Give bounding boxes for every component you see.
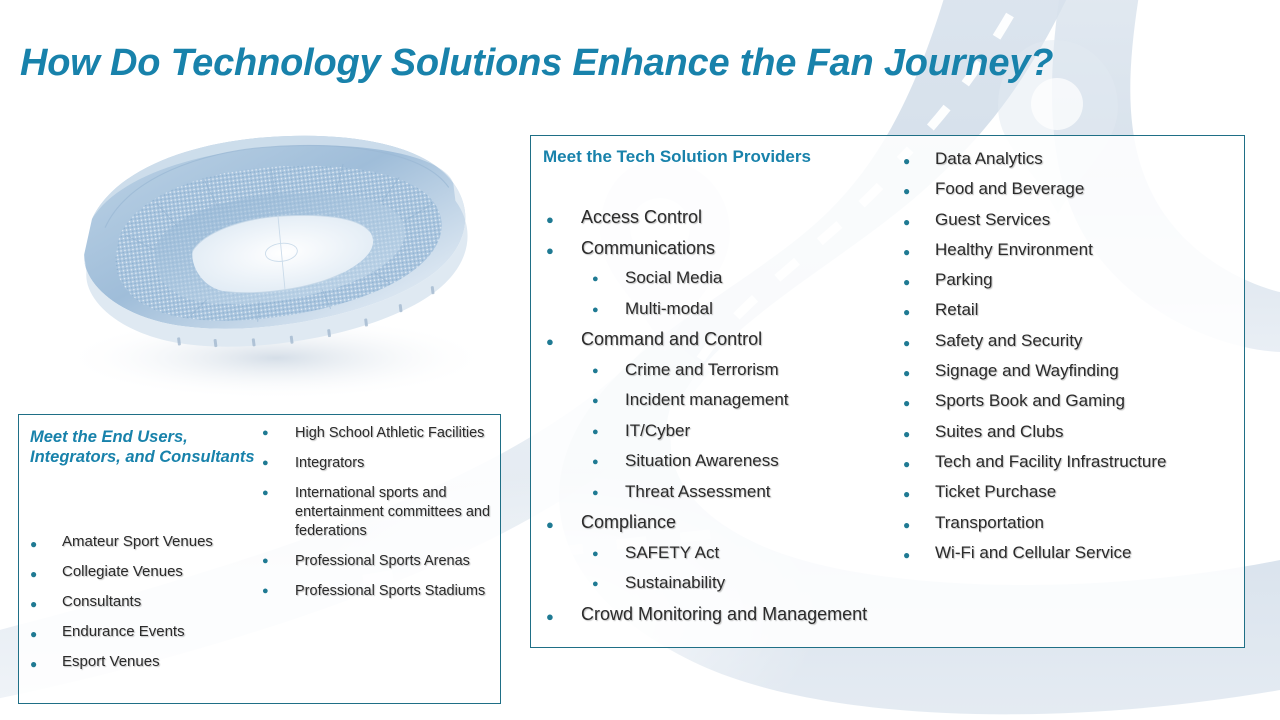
list-item[interactable]: ● Professional Sports Stadiums	[255, 582, 500, 601]
list-item[interactable]: ● Communications	[531, 233, 881, 264]
list-item-label: Healthy Environment	[895, 235, 1240, 265]
list-item[interactable]: ● Situation Awareness	[531, 446, 881, 477]
list-item-label: Tech and Facility Infrastructure	[895, 447, 1240, 477]
bullet-icon: ●	[592, 488, 599, 499]
end-users-left-list: ● Amateur Sport Venues ● Collegiate Venu…	[19, 527, 254, 677]
list-item-label: Access Control	[531, 202, 881, 233]
list-item[interactable]: ● Incident management	[531, 385, 881, 416]
bullet-icon: ●	[903, 488, 910, 500]
list-item-label: Command and Control	[531, 324, 881, 355]
bullet-icon: ●	[903, 216, 910, 228]
list-item-label: Parking	[895, 265, 1240, 295]
list-item-label: Guest Services	[895, 205, 1240, 235]
list-item-label: Compliance	[531, 507, 881, 538]
list-item[interactable]: ● Multi-modal	[531, 294, 881, 325]
list-item-label: Integrators	[255, 454, 500, 473]
list-item-label: Crime and Terrorism	[531, 355, 881, 386]
bullet-icon: ●	[262, 556, 269, 567]
list-item-label: Suites and Clubs	[895, 417, 1240, 447]
list-item[interactable]: ● Access Control	[531, 202, 881, 233]
list-item[interactable]: ● Command and Control	[531, 324, 881, 355]
list-item-label: Esport Venues	[19, 647, 254, 677]
list-item-label: Safety and Security	[895, 326, 1240, 356]
bullet-icon: ●	[903, 367, 910, 379]
list-item-label: Food and Beverage	[895, 174, 1240, 204]
bullet-icon: ●	[262, 488, 269, 499]
list-item-label: Amateur Sport Venues	[19, 527, 254, 557]
bullet-icon: ●	[546, 610, 554, 623]
list-item-label: Sports Book and Gaming	[895, 386, 1240, 416]
list-item[interactable]: ● Esport Venues	[19, 647, 254, 677]
solution-categories-list: ● Data Analytics ● Food and Beverage ● G…	[895, 144, 1240, 568]
bullet-icon: ●	[262, 586, 269, 597]
bullet-icon: ●	[592, 396, 599, 407]
list-item[interactable]: ● Compliance	[531, 507, 881, 538]
bullet-icon: ●	[903, 276, 910, 288]
list-item-label: Wi-Fi and Cellular Service	[895, 538, 1240, 568]
bullet-icon: ●	[546, 335, 554, 348]
bullet-icon: ●	[903, 549, 910, 561]
list-item[interactable]: ● Retail	[895, 295, 1240, 325]
list-item-label: High School Athletic Facilities	[255, 424, 500, 443]
list-item[interactable]: ● International sports and entertainment…	[255, 484, 500, 541]
list-item[interactable]: ● Threat Assessment	[531, 477, 881, 508]
list-item[interactable]: ● High School Athletic Facilities	[255, 424, 500, 443]
list-item[interactable]: ● Data Analytics	[895, 144, 1240, 174]
list-item-label: Incident management	[531, 385, 881, 416]
list-item[interactable]: ● Professional Sports Arenas	[255, 552, 500, 571]
tech-solution-providers-panel: Meet the Tech Solution Providers ● Acces…	[530, 135, 1245, 648]
providers-panel-heading: Meet the Tech Solution Providers	[543, 146, 811, 168]
providers-outline-list: ● Access Control ● Communications ● Soci…	[531, 202, 881, 629]
list-item-label: Data Analytics	[895, 144, 1240, 174]
list-item-label: SAFETY Act	[531, 538, 881, 569]
list-item[interactable]: ● Social Media	[531, 263, 881, 294]
list-item[interactable]: ● Healthy Environment	[895, 235, 1240, 265]
bullet-icon: ●	[903, 246, 910, 258]
list-item[interactable]: ● Crime and Terrorism	[531, 355, 881, 386]
list-item[interactable]: ● Safety and Security	[895, 326, 1240, 356]
list-item[interactable]: ● Ticket Purchase	[895, 477, 1240, 507]
list-item-label: Crowd Monitoring and Management	[531, 599, 881, 630]
list-item[interactable]: ● Crowd Monitoring and Management	[531, 599, 881, 630]
bullet-icon: ●	[903, 458, 910, 470]
list-item-label: Collegiate Venues	[19, 557, 254, 587]
list-item-label: IT/Cyber	[531, 416, 881, 447]
list-item[interactable]: ● Parking	[895, 265, 1240, 295]
bullet-icon: ●	[903, 519, 910, 531]
bullet-icon: ●	[903, 185, 910, 197]
list-item-label: Professional Sports Stadiums	[255, 582, 500, 601]
bullet-icon: ●	[30, 628, 37, 640]
bullet-icon: ●	[592, 274, 599, 285]
list-item[interactable]: ● Transportation	[895, 508, 1240, 538]
end-users-panel: Meet the End Users, Integrators, and Con…	[18, 414, 501, 704]
list-item[interactable]: ● SAFETY Act	[531, 538, 881, 569]
bullet-icon: ●	[30, 538, 37, 550]
endusers-panel-heading: Meet the End Users, Integrators, and Con…	[30, 427, 260, 467]
bullet-icon: ●	[262, 428, 269, 439]
list-item-label: Threat Assessment	[531, 477, 881, 508]
slide-canvas: How Do Technology Solutions Enhance the …	[0, 0, 1280, 720]
list-item-label: Social Media	[531, 263, 881, 294]
bullet-icon: ●	[903, 337, 910, 349]
list-item-label: International sports and entertainment c…	[255, 484, 500, 541]
bullet-icon: ●	[592, 549, 599, 560]
bullet-icon: ●	[592, 457, 599, 468]
list-item[interactable]: ● Endurance Events	[19, 617, 254, 647]
bullet-icon: ●	[30, 598, 37, 610]
end-users-right-list: ● High School Athletic Facilities ● Inte…	[255, 424, 500, 612]
list-item-label: Consultants	[19, 587, 254, 617]
list-item-label: Ticket Purchase	[895, 477, 1240, 507]
list-item-label: Transportation	[895, 508, 1240, 538]
list-item[interactable]: ● Food and Beverage	[895, 174, 1240, 204]
bullet-icon: ●	[903, 428, 910, 440]
bullet-icon: ●	[546, 244, 554, 257]
list-item-label: Communications	[531, 233, 881, 264]
list-item[interactable]: ● Collegiate Venues	[19, 557, 254, 587]
bullet-icon: ●	[30, 568, 37, 580]
list-item-label: Sustainability	[531, 568, 881, 599]
list-item-label: Multi-modal	[531, 294, 881, 325]
bullet-icon: ●	[592, 305, 599, 316]
bullet-icon: ●	[546, 213, 554, 226]
list-item[interactable]: ● Suites and Clubs	[895, 417, 1240, 447]
list-item-label: Situation Awareness	[531, 446, 881, 477]
bullet-icon: ●	[903, 155, 910, 167]
stadium-illustration	[18, 128, 518, 398]
bullet-icon: ●	[592, 579, 599, 590]
bullet-icon: ●	[546, 518, 554, 531]
list-item-label: Professional Sports Arenas	[255, 552, 500, 571]
list-item[interactable]: ● Wi-Fi and Cellular Service	[895, 538, 1240, 568]
bullet-icon: ●	[592, 427, 599, 438]
bullet-icon: ●	[592, 366, 599, 377]
slide-title: How Do Technology Solutions Enhance the …	[20, 40, 1260, 86]
bullet-icon: ●	[903, 306, 910, 318]
list-item[interactable]: ● Amateur Sport Venues	[19, 527, 254, 557]
list-item-label: Signage and Wayfinding	[895, 356, 1240, 386]
list-item[interactable]: ● IT/Cyber	[531, 416, 881, 447]
list-item-label: Retail	[895, 295, 1240, 325]
list-item-label: Endurance Events	[19, 617, 254, 647]
list-item[interactable]: ● Guest Services	[895, 205, 1240, 235]
bullet-icon: ●	[903, 397, 910, 409]
list-item[interactable]: ● Sustainability	[531, 568, 881, 599]
list-item[interactable]: ● Signage and Wayfinding	[895, 356, 1240, 386]
list-item[interactable]: ● Consultants	[19, 587, 254, 617]
bullet-icon: ●	[30, 658, 37, 670]
bullet-icon: ●	[262, 458, 269, 469]
list-item[interactable]: ● Sports Book and Gaming	[895, 386, 1240, 416]
list-item[interactable]: ● Integrators	[255, 454, 500, 473]
list-item[interactable]: ● Tech and Facility Infrastructure	[895, 447, 1240, 477]
